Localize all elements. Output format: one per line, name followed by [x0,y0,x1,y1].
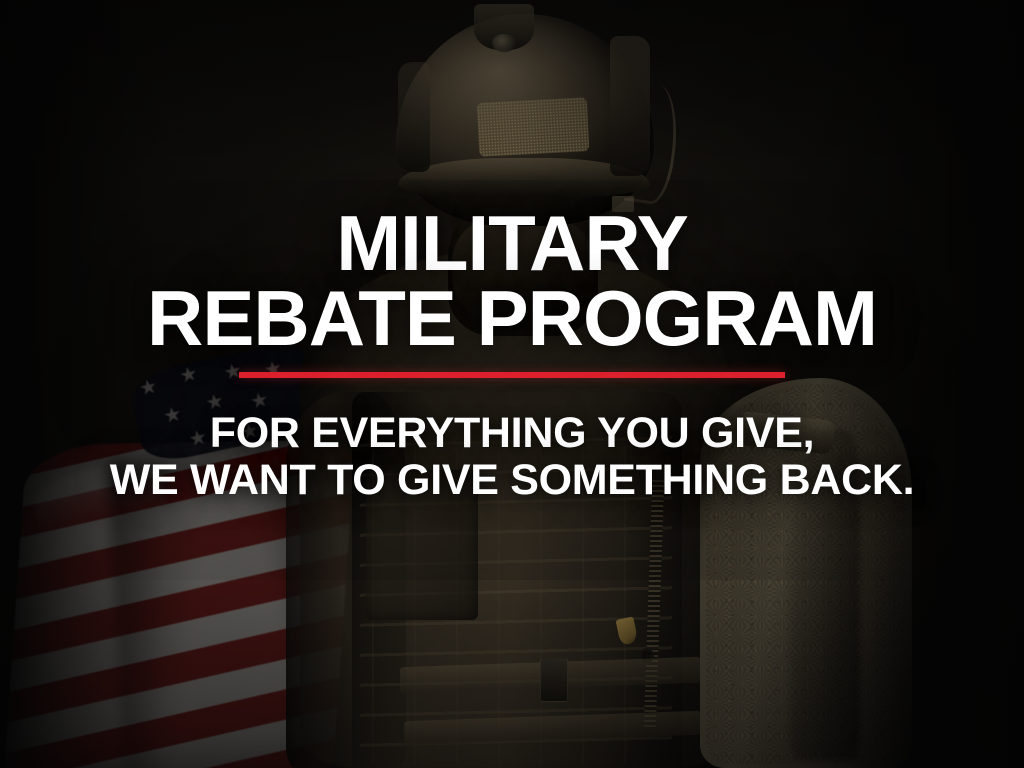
subheadline-line-1: FOR EVERYTHING YOU GIVE, [110,410,915,457]
headline-line-2: REBATE PROGRAM [147,281,877,356]
subheadline-line-2: WE WANT TO GIVE SOMETHING BACK. [110,457,915,504]
page-subtitle: FOR EVERYTHING YOU GIVE, WE WANT TO GIVE… [110,410,915,505]
red-divider-rule [239,372,785,378]
headline-line-1: MILITARY [147,206,877,281]
banner-content: MILITARY REBATE PROGRAM FOR EVERYTHING Y… [0,0,1024,768]
military-rebate-banner: ★ ★ ★ ★ ★ ★ ★ ★ ★ [0,0,1024,768]
page-title: MILITARY REBATE PROGRAM [147,0,877,356]
